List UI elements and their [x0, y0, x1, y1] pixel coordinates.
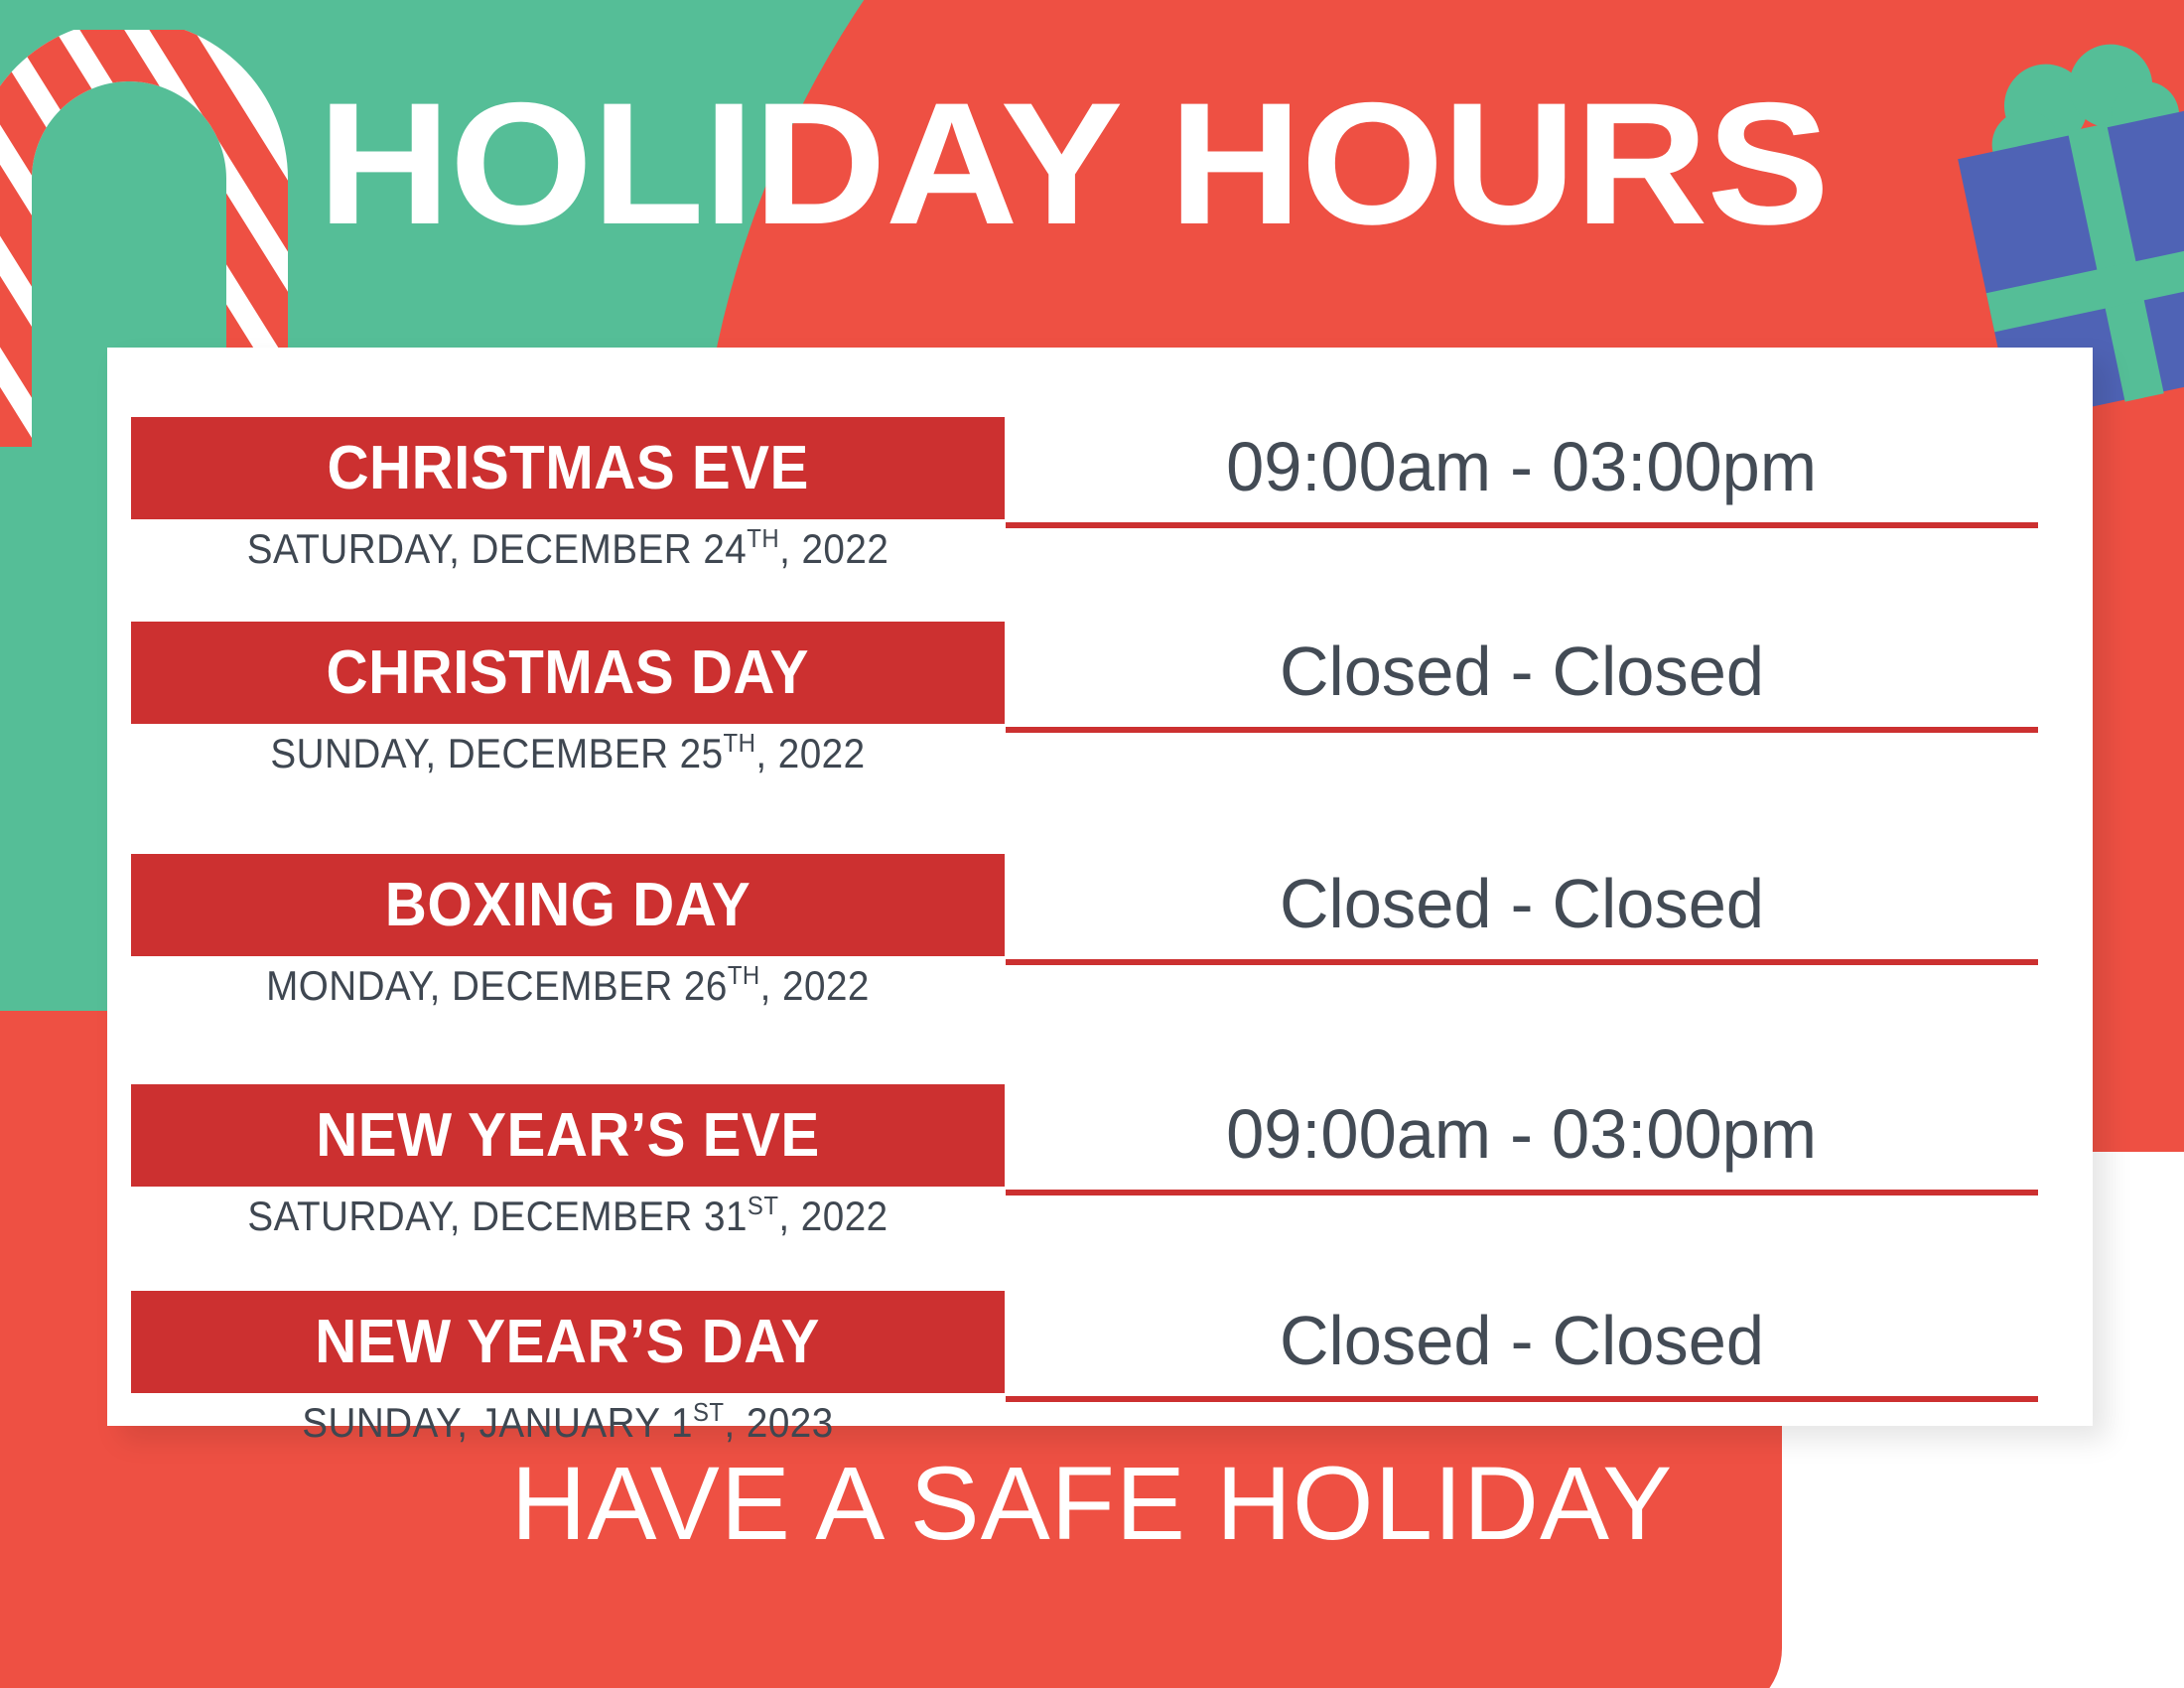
holiday-date: MONDAY, DECEMBER 26TH, 2022: [166, 960, 970, 1010]
holiday-hours-cell: 09:00am - 03:00pm: [1006, 1078, 2038, 1196]
holiday-hours: Closed - Closed: [1280, 869, 1764, 938]
holiday-date-year: , 2023: [724, 1399, 833, 1446]
holiday-date-ordinal: TH: [724, 728, 756, 758]
schedule-list: CHRISTMAS EVE SATURDAY, DECEMBER 24TH, 2…: [107, 348, 2093, 1426]
holiday-date-year: , 2022: [778, 1193, 887, 1239]
holiday-name: NEW YEAR’S EVE: [316, 1105, 819, 1167]
schedule-row: CHRISTMAS DAY SUNDAY, DECEMBER 25TH, 202…: [107, 622, 2093, 820]
footer-message: HAVE A SAFE HOLIDAY: [0, 1452, 2184, 1556]
holiday-name-banner: BOXING DAY: [131, 854, 1005, 956]
holiday-hours-cell: Closed - Closed: [1006, 848, 2038, 965]
holiday-hours: Closed - Closed: [1280, 1306, 1764, 1375]
holiday-hours: Closed - Closed: [1280, 636, 1764, 706]
schedule-row: NEW YEAR’S EVE SATURDAY, DECEMBER 31ST, …: [107, 1084, 2093, 1283]
holiday-hours-cell: Closed - Closed: [1006, 616, 2038, 733]
holiday-date-year: , 2022: [779, 525, 888, 572]
holiday-name-banner: CHRISTMAS DAY: [131, 622, 1005, 724]
holiday-name-banner: CHRISTMAS EVE: [131, 417, 1005, 519]
holiday-date-year: , 2022: [755, 730, 865, 776]
holiday-name: CHRISTMAS DAY: [327, 642, 809, 704]
holiday-date: SATURDAY, DECEMBER 31ST, 2022: [166, 1191, 970, 1240]
holiday-date-ordinal: TH: [728, 960, 760, 990]
holiday-date-prefix: SUNDAY, JANUARY 1: [302, 1399, 693, 1446]
holiday-date-prefix: MONDAY, DECEMBER 26: [266, 962, 728, 1009]
holiday-date-prefix: SATURDAY, DECEMBER 24: [247, 525, 748, 572]
holiday-hours-cell: Closed - Closed: [1006, 1285, 2038, 1402]
holiday-name: NEW YEAR’S DAY: [316, 1312, 821, 1373]
holiday-name: BOXING DAY: [385, 875, 751, 936]
holiday-date-prefix: SATURDAY, DECEMBER 31: [247, 1193, 748, 1239]
holiday-date: SUNDAY, JANUARY 1ST, 2023: [166, 1397, 970, 1447]
holiday-hours: 09:00am - 03:00pm: [1227, 432, 1818, 501]
holiday-date-year: , 2022: [760, 962, 870, 1009]
holiday-date-ordinal: TH: [747, 523, 779, 553]
holiday-hours-poster: HOLIDAY HOURS CHRISTMAS EVE SATURDAY, DE…: [0, 0, 2184, 1688]
holiday-date: SUNDAY, DECEMBER 25TH, 2022: [166, 728, 970, 777]
holiday-date-prefix: SUNDAY, DECEMBER 25: [270, 730, 723, 776]
holiday-date: SATURDAY, DECEMBER 24TH, 2022: [166, 523, 970, 573]
page-title: HOLIDAY HOURS: [318, 77, 1829, 251]
holiday-name: CHRISTMAS EVE: [327, 438, 808, 499]
holiday-hours: 09:00am - 03:00pm: [1227, 1099, 1818, 1169]
schedule-row: BOXING DAY MONDAY, DECEMBER 26TH, 2022 C…: [107, 854, 2093, 1053]
holiday-name-banner: NEW YEAR’S DAY: [131, 1291, 1005, 1393]
schedule-row: CHRISTMAS EVE SATURDAY, DECEMBER 24TH, 2…: [107, 417, 2093, 616]
holiday-hours-cell: 09:00am - 03:00pm: [1006, 411, 2038, 528]
holiday-date-ordinal: ST: [748, 1191, 779, 1220]
holiday-date-ordinal: ST: [693, 1397, 725, 1427]
holiday-name-banner: NEW YEAR’S EVE: [131, 1084, 1005, 1187]
